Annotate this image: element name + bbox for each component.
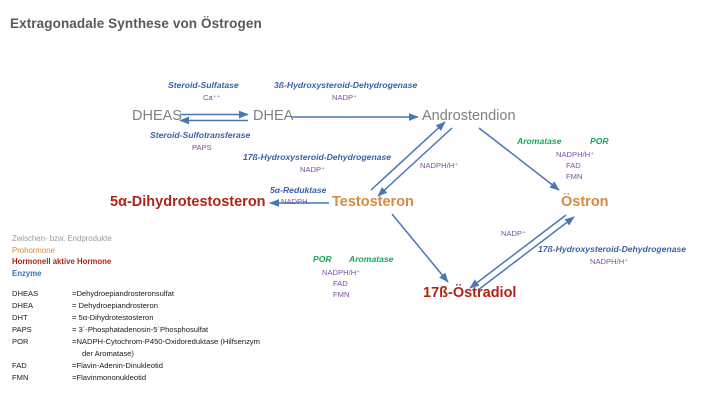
cofactor-fad-aromatase-top: FAD — [566, 161, 581, 170]
abbreviation-text: Flavinmononukleotid — [76, 373, 146, 382]
cofactor-nadph-h-aromatase-bottom: NADPH/H⁺ — [322, 268, 360, 277]
abbreviation-row: DHEA= Dehydroepiandrosteron — [12, 300, 260, 312]
enzyme-17beta-hsd-right: 17ß-Hydroxysteroid-Dehydrogenase — [538, 244, 686, 254]
cofactor-paps: PAPS — [192, 143, 212, 152]
cofactor-fad-aromatase-bottom: FAD — [333, 279, 348, 288]
abbreviation-text: 3´-Phosphatadenosin-5´Phosphosulfat — [76, 325, 208, 334]
enzyme-por-bottom: POR — [313, 254, 332, 264]
node-oestron: Östron — [561, 194, 609, 210]
legend-item-enzymes: Enzyme — [12, 269, 112, 278]
abbreviation-key: DHEAS — [12, 288, 70, 300]
node-androstendion: Androstendion — [422, 108, 516, 124]
abbreviation-row: DHT= 5α-Dihydrotestosteron — [12, 312, 260, 324]
abbreviation-text: Dehydroepiandrosteron — [76, 301, 157, 310]
abbreviation-row: PAPS= 3´-Phosphatadenosin-5´Phosphosulfa… — [12, 324, 260, 336]
abbreviation-text: Dehydroepiandrosteronsulfat — [76, 289, 174, 298]
abbreviation-list: DHEAS=DehydroepiandrosteronsulfatDHEA= D… — [12, 288, 260, 384]
cofactor-nadph-reduktase: NADPH — [281, 197, 308, 206]
abbreviation-text: Flavin-Adenin-Dinukleotid — [76, 361, 163, 370]
abbreviation-key: POR — [12, 336, 70, 360]
abbreviation-value: =Dehydroepiandrosteronsulfat — [70, 288, 260, 300]
abbreviation-value: = 5α-Dihydrotestosteron — [70, 312, 260, 324]
cofactor-nadph-h-left: NADPH/H⁺ — [420, 161, 458, 170]
node-oestradiol: 17ß-Östradiol — [423, 285, 516, 301]
abbreviation-row: DHEAS=Dehydroepiandrosteronsulfat — [12, 288, 260, 300]
abbreviation-value: = Dehydroepiandrosteron — [70, 300, 260, 312]
enzyme-steroid-sulfotransferase: Steroid-Sulfotransferase — [150, 130, 250, 140]
cofactor-nadph-h-right: NADPH/H⁺ — [590, 257, 628, 266]
arrow-testosteron-to-oestradiol — [392, 214, 448, 282]
enzyme-aromatase-bottom: Aromatase — [349, 254, 393, 264]
enzyme-3beta-hsd: 3ß-Hydroxysteroid-Dehydrogenase — [274, 80, 417, 90]
abbreviation-key: FAD — [12, 360, 70, 372]
node-dihydrotestosteron: 5α-Dihydrotestosteron — [110, 194, 266, 210]
enzyme-5alpha-reduktase: 5α-Reduktase — [270, 185, 326, 195]
cofactor-fmn-aromatase-bottom: FMN — [333, 290, 349, 299]
enzyme-por-top: POR — [590, 136, 609, 146]
abbreviation-value: =Flavinmononukleotid — [70, 372, 260, 384]
legend: Zwischen- bzw. Endprodukte Prohormone Ho… — [12, 234, 112, 278]
legend-item-prohormones: Prohormone — [12, 246, 112, 255]
abbreviation-text: NADPH-Cytochrom-P450-Oxidoreduktase (Hil… — [76, 337, 260, 346]
cofactor-fmn-aromatase-top: FMN — [566, 172, 582, 181]
abbreviation-text: 5α-Dihydrotestosteron — [76, 313, 153, 322]
abbreviation-key: DHT — [12, 312, 70, 324]
abbreviation-row: FMN=Flavinmononukleotid — [12, 372, 260, 384]
node-dheas: DHEAS — [132, 108, 182, 124]
enzyme-17beta-hsd-left: 17ß-Hydroxysteroid-Dehydrogenase — [243, 152, 391, 162]
cofactor-nadph-h-aromatase-top: NADPH/H⁺ — [556, 150, 594, 159]
cofactor-nadp-plus-3beta: NADP⁺ — [332, 93, 357, 102]
abbreviation-key: PAPS — [12, 324, 70, 336]
cofactor-nadp-plus-right: NADP⁺ — [501, 229, 526, 238]
node-dhea: DHEA — [253, 108, 293, 124]
abbreviation-value: =Flavin-Adenin-Dinukleotid — [70, 360, 260, 372]
abbreviation-value: =NADPH-Cytochrom-P450-Oxidoreduktase (Hi… — [70, 336, 260, 360]
abbreviation-text-continued: der Aromatase) — [72, 348, 260, 360]
abbreviation-row: FAD=Flavin-Adenin-Dinukleotid — [12, 360, 260, 372]
abbreviation-key: DHEA — [12, 300, 70, 312]
node-testosteron: Testosteron — [332, 194, 414, 210]
diagram-canvas: Extragonadale Synthese von Östrogen — [0, 0, 720, 405]
cofactor-nadp-plus-17beta-left: NADP⁺ — [300, 165, 325, 174]
page-title: Extragonadale Synthese von Östrogen — [10, 16, 262, 31]
legend-item-active-hormones: Hormonell aktive Hormone — [12, 257, 112, 266]
abbreviation-row: POR=NADPH-Cytochrom-P450-Oxidoreduktase … — [12, 336, 260, 360]
abbreviation-value: = 3´-Phosphatadenosin-5´Phosphosulfat — [70, 324, 260, 336]
enzyme-aromatase-top: Aromatase — [517, 136, 561, 146]
cofactor-calcium: Ca⁺⁺ — [203, 93, 221, 102]
legend-item-intermediates: Zwischen- bzw. Endprodukte — [12, 234, 112, 243]
abbreviation-key: FMN — [12, 372, 70, 384]
enzyme-steroid-sulfatase: Steroid-Sulfatase — [168, 80, 239, 90]
